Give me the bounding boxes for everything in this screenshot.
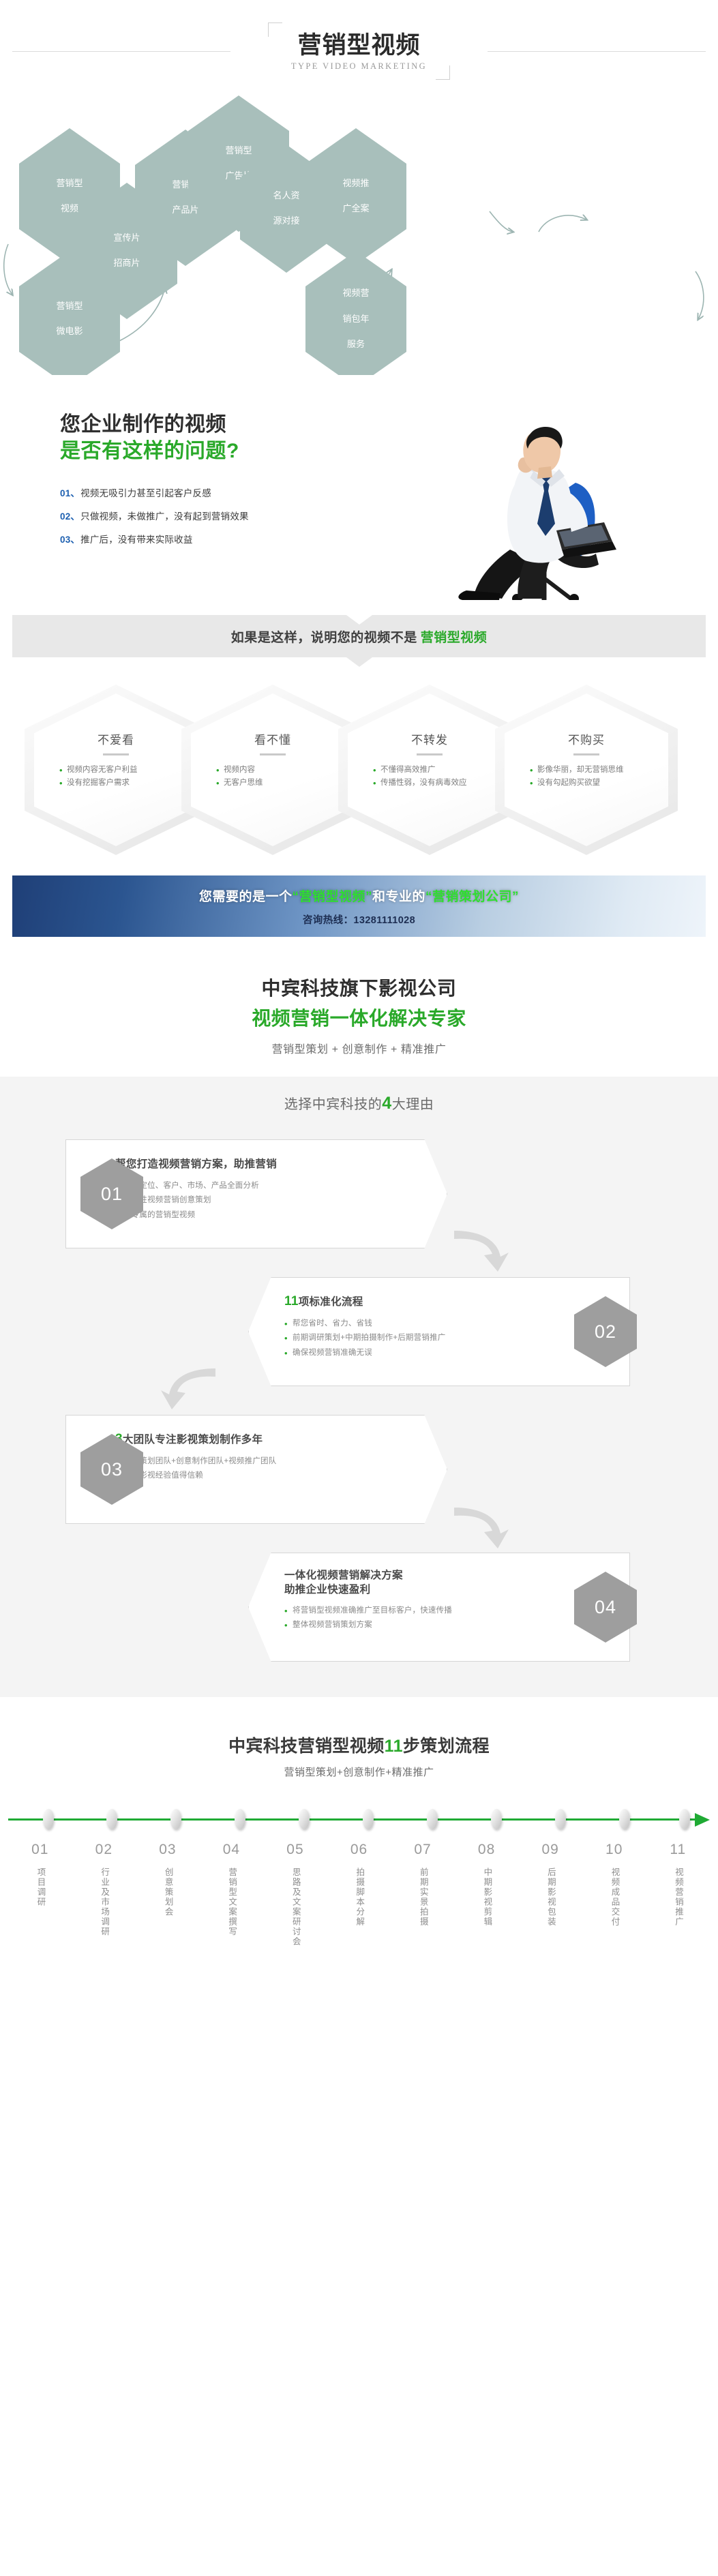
hex-label-line1: 宣传片	[109, 232, 144, 245]
company-heading-section: 中宾科技旗下影视公司 视频营销一体化解决专家 营销型策划 + 创意制作 + 精准…	[0, 955, 718, 1077]
reasons-title-number: 4	[382, 1094, 391, 1113]
timeline-step-3[interactable]: 04 营销型文案撰写	[200, 1842, 264, 1950]
page-title: 营销型视频	[291, 32, 427, 59]
reason-card-body: 一体化视频营销解决方案 助推企业快速盈利 将营销型视频准确推广至目标客户，快速传…	[249, 1553, 629, 1632]
problem-hex-bullets: 视频内容无客户利益 没有挖掘客户需求	[59, 764, 173, 790]
timeline-step-7[interactable]: 08 中期影视剪辑	[455, 1842, 519, 1950]
company-line1: 中宾科技旗下影视公司	[0, 974, 718, 1001]
bullet: 影像华丽，却无营销思维	[530, 764, 643, 777]
step-number: 07	[391, 1842, 455, 1858]
bullet: 传播性弱，没有病毒效应	[373, 777, 486, 790]
company-line3: 营销型策划 + 创意制作 + 精准推广	[0, 1040, 718, 1056]
step-label: 视频营销推广	[670, 1868, 685, 1927]
cta-middle: 和专业的	[372, 890, 425, 904]
problem-hex-inner: 不爱看 视频内容无客户利益 没有挖掘客户需求	[34, 693, 198, 846]
step-label: 拍摄脚本分解	[352, 1868, 367, 1927]
hex-label-line2: 视频	[52, 203, 87, 215]
problem-heading-line1: 您企业制作的视频	[60, 413, 249, 438]
step-label: 项目调研	[33, 1868, 48, 1907]
problem-heading-line2: 是否有这样的问题?	[60, 439, 249, 464]
step-label: 创意策划会	[160, 1868, 175, 1917]
hex-label-line2: 源对接	[269, 215, 303, 228]
hex-label-line1: 营销型	[52, 300, 87, 313]
hex-label-line2: 产品片	[168, 204, 203, 217]
reason-bullets: 营销策划团队+创意制作团队+视频推广团队 多年影视经验值得信赖	[115, 1454, 423, 1484]
reasons-title-prefix: 选择中宾科技的	[284, 1097, 383, 1112]
company-line2: 视频营销一体化解决专家	[0, 1004, 718, 1031]
cta-quote-1: “营销型视频”	[292, 890, 372, 904]
bullet: 将营销型视频准确推广至目标客户，快速传播	[284, 1604, 606, 1618]
timeline-title: 中宾科技营销型视频11步策划流程	[0, 1733, 718, 1757]
reasons-title-suffix: 大理由	[392, 1097, 434, 1112]
step-number: 03	[136, 1842, 200, 1858]
bullet: 视频内容无客户利益	[59, 764, 173, 777]
problem-hex-title: 不转发	[411, 730, 448, 747]
timeline-node[interactable]	[427, 1809, 438, 1829]
bullet: 品牌定位、客户、市场、产品全面分析	[115, 1179, 423, 1193]
bullet: 针对性视频营销创意策划	[115, 1193, 423, 1208]
reason-bullets: 将营销型视频准确推广至目标客户，快速传播 整体视频营销策划方案	[284, 1604, 606, 1633]
gray-banner-text: 如果是这样，说明您的视频不是	[231, 631, 417, 645]
step-number: 11	[646, 1842, 710, 1858]
step-number: 08	[455, 1842, 519, 1858]
reason-heading: 11项标准化流程	[284, 1293, 606, 1311]
hex-label-line3: 服务	[338, 338, 373, 351]
timeline-step-8[interactable]: 09 后期影视包装	[518, 1842, 582, 1950]
timeline-step-5[interactable]: 06 拍摄脚本分解	[327, 1842, 391, 1950]
timeline-node[interactable]	[106, 1809, 117, 1829]
divider	[417, 753, 443, 755]
reason-row-3: 一体化视频营销解决方案 助推企业快速盈利 将营销型视频准确推广至目标客户，快速传…	[0, 1538, 718, 1667]
timeline-track	[8, 1808, 710, 1831]
problem-text-block: 您企业制作的视频 是否有这样的问题? 01、视频无吸引力甚至引起客户反感 02、…	[60, 413, 249, 555]
blue-cta-section: 您需要的是一个“营销型视频”和专业的“营销策划公司” 咨询热线：13281111…	[0, 855, 718, 955]
reason-card-body: 11项标准化流程 帮您省时、省力、省钱 前期调研策划+中期拍摄制作+后期营销推广…	[249, 1278, 629, 1360]
timeline-node[interactable]	[679, 1809, 690, 1829]
problem-hex-bullets: 不懂得高效推广 传播性弱，没有病毒效应	[373, 764, 486, 790]
problem-hex-row: 不爱看 视频内容无客户利益 没有挖掘客户需求 看不懂 视频内容 无客户思维 不转	[0, 685, 718, 855]
timeline-arrow-icon	[695, 1813, 710, 1827]
hex-label-line2: 销包年	[338, 313, 373, 326]
bullet: 无客户思维	[216, 777, 329, 790]
problem-hex-title: 不爱看	[98, 730, 134, 747]
hex-label-line2: 广全案	[338, 203, 373, 215]
timeline-node[interactable]	[235, 1809, 245, 1829]
header-title-box: 营销型视频 TYPE VIDEO MARKETING	[268, 23, 450, 79]
step-label: 后期影视包装	[543, 1868, 558, 1927]
timeline-step-4[interactable]: 05 思路及文案研讨会	[263, 1842, 327, 1950]
gray-banner-highlight: 营销型视频	[421, 631, 488, 645]
reason-heading-text: 项标准化流程	[299, 1296, 363, 1308]
timeline-step-2[interactable]: 03 创意策划会	[136, 1842, 200, 1950]
step-label: 视频成品交付	[607, 1868, 622, 1927]
hex-label-line1: 视频推	[338, 177, 373, 190]
problem-hex-bullets: 影像华丽，却无营销思维 没有勾起购买欲望	[530, 764, 643, 790]
reason-card-3[interactable]: 一体化视频营销解决方案 助推企业快速盈利 将营销型视频准确推广至目标客户，快速传…	[248, 1553, 630, 1662]
step-label: 中期影视剪辑	[479, 1868, 494, 1927]
problem-list: 01、视频无吸引力甚至引起客户反感 02、只做视频，未做推广，没有起到营销效果 …	[60, 485, 249, 545]
cta-quote-2: “营销策划公司”	[425, 890, 519, 904]
page-subtitle: TYPE VIDEO MARKETING	[291, 61, 427, 72]
bullet: 营销策划团队+创意制作团队+视频推广团队	[115, 1454, 423, 1469]
problem-list-item: 01、视频无吸引力甚至引起客户反感	[60, 485, 249, 499]
problem-list-item: 03、推广后，没有带来实际收益	[60, 532, 249, 545]
problem-hex-inner: 不购买 影像华丽，却无营销思维 没有勾起购买欲望	[505, 693, 668, 846]
reason-card-1[interactable]: 11项标准化流程 帮您省时、省力、省钱 前期调研策划+中期拍摄制作+后期营销推广…	[248, 1277, 630, 1386]
reason-row-0: 帮您打造视频营销方案，助推营销 品牌定位、客户、市场、产品全面分析 针对性视频营…	[0, 1124, 718, 1254]
reasons-section: 选择中宾科技的4大理由 帮您打造视频营销方案，助推营销	[0, 1077, 718, 1697]
step-number: 05	[263, 1842, 327, 1858]
reason-row-1: 11项标准化流程 帮您省时、省力、省钱 前期调研策划+中期拍摄制作+后期营销推广…	[0, 1262, 718, 1392]
hex-label-line2: 微电影	[52, 325, 87, 338]
timeline-section: 中宾科技营销型视频11步策划流程 营销型策划+创意制作+精准推广 01 项目调研	[0, 1697, 718, 1981]
gray-banner: 如果是这样，说明您的视频不是营销型视频	[12, 615, 706, 657]
hex-label-line1: 营销型	[52, 177, 87, 190]
bullet: 前期调研策划+中期拍摄制作+后期营销推广	[284, 1331, 606, 1345]
step-number: 06	[327, 1842, 391, 1858]
timeline-node[interactable]	[619, 1809, 630, 1829]
marketing-video-landing-page: 营销型视频 TYPE VIDEO MARKETING	[0, 0, 718, 1981]
bullet: 不懂得高效推广	[373, 764, 486, 777]
problem-item-text: 视频无吸引力甚至引起客户反感	[80, 488, 211, 498]
hex-label-line1: 视频营	[338, 287, 373, 300]
header-rule-left	[12, 51, 230, 52]
timeline-node[interactable]	[363, 1809, 374, 1829]
bullet: 多年影视经验值得信赖	[115, 1469, 423, 1483]
step-label: 思路及文案研讨会	[288, 1868, 303, 1947]
reason-heading: 3大团队专注影视策划制作多年	[115, 1431, 423, 1448]
reason-heading-number: 11	[284, 1294, 299, 1308]
bullet: 帮您省时、省力、省钱	[284, 1317, 606, 1331]
problem-hex-inner: 不转发 不懂得高效推广 传播性弱，没有病毒效应	[348, 693, 511, 846]
step-label: 营销型文案撰写	[224, 1868, 239, 1937]
reason-heading-text2: 助推企业快速盈利	[284, 1584, 370, 1596]
problem-item-number: 02、	[60, 511, 80, 522]
problem-hex-3[interactable]: 不购买 影像华丽，却无营销思维 没有勾起购买欲望	[495, 685, 678, 855]
divider	[103, 753, 129, 755]
reasons-title: 选择中宾科技的4大理由	[0, 1093, 718, 1113]
timeline-node[interactable]	[43, 1809, 54, 1829]
reason-bullets: 品牌定位、客户、市场、产品全面分析 针对性视频营销创意策划 您专属的营销型视频	[115, 1179, 423, 1223]
cta-prefix: 您需要的是一个	[199, 890, 293, 904]
problem-hex-title: 不购买	[568, 730, 605, 747]
timeline-node[interactable]	[170, 1809, 181, 1829]
reason-heading: 帮您打造视频营销方案，助推营销	[115, 1155, 423, 1173]
step-number: 01	[8, 1842, 72, 1858]
bullet: 视频内容	[216, 764, 329, 777]
header-rule-right	[488, 51, 706, 52]
timeline-subtitle: 营销型策划+创意制作+精准推广	[0, 1765, 718, 1779]
problem-hex-inner: 看不懂 视频内容 无客户思维	[191, 693, 355, 846]
timeline-step-6[interactable]: 07 前期实景拍摄	[391, 1842, 455, 1950]
problem-list-item: 02、只做视频，未做推广，没有起到营销效果	[60, 509, 249, 522]
problem-item-text: 只做视频，未做推广，没有起到营销效果	[80, 511, 249, 522]
hotline-text[interactable]: 咨询热线：13281111028	[303, 912, 415, 927]
problem-hex-0[interactable]: 不爱看 视频内容无客户利益 没有挖掘客户需求	[25, 685, 207, 855]
gray-banner-text-wrap: 如果是这样，说明您的视频不是营销型视频	[231, 627, 488, 646]
timeline-node[interactable]	[491, 1809, 502, 1829]
step-label: 行业及市场调研	[97, 1868, 112, 1937]
reason-heading-text: 帮您打造视频营销方案，助推营销	[115, 1158, 277, 1170]
timeline-step-0[interactable]: 01 项目调研	[8, 1842, 72, 1950]
timeline-step-1[interactable]: 02 行业及市场调研	[72, 1842, 136, 1950]
timeline-node[interactable]	[555, 1809, 566, 1829]
problem-hex-1[interactable]: 看不懂 视频内容 无客户思维	[181, 685, 364, 855]
gray-banner-section: 如果是这样，说明您的视频不是营销型视频	[0, 600, 718, 670]
blue-cta-heading: 您需要的是一个“营销型视频”和专业的“营销策划公司”	[199, 886, 519, 905]
step-number: 09	[518, 1842, 582, 1858]
timeline-node[interactable]	[299, 1809, 310, 1829]
blue-cta-banner: 您需要的是一个“营销型视频”和专业的“营销策划公司” 咨询热线：13281111…	[12, 875, 706, 937]
timeline-title-prefix: 中宾科技营销型视频	[228, 1737, 385, 1756]
step-number: 10	[582, 1842, 646, 1858]
bullet: 整体视频营销策划方案	[284, 1618, 606, 1632]
hex-label-line1: 营销型	[221, 145, 256, 158]
problem-item-number: 01、	[60, 488, 80, 498]
bullet: 您专属的营销型视频	[115, 1208, 423, 1223]
problem-item-text: 推广后，没有带来实际收益	[80, 535, 192, 545]
reason-heading-text: 大团队专注影视策划制作多年	[123, 1434, 263, 1446]
step-number: 04	[200, 1842, 264, 1858]
problem-hex-2[interactable]: 不转发 不懂得高效推广 传播性弱，没有病毒效应	[338, 685, 521, 855]
hex-label-line1: 名人资	[269, 190, 303, 203]
step-label: 前期实景拍摄	[415, 1868, 430, 1927]
timeline-steps: 01 项目调研 02 行业及市场调研 03 创意策划会 04 营销型文案撰写 0…	[8, 1842, 710, 1950]
timeline-title-suffix: 步策划流程	[403, 1737, 490, 1756]
reason-bullets: 帮您省时、省力、省钱 前期调研策划+中期拍摄制作+后期营销推广 确保视频营销准确…	[284, 1317, 606, 1360]
hex-item-7[interactable]: 视频营 销包年 服务	[305, 251, 406, 387]
problem-item-number: 03、	[60, 535, 80, 545]
timeline-title-number: 11	[385, 1737, 403, 1756]
service-hex-grid: 营销型 视频 营销型 微电影 宣传片 招商片 营销型 产品片 营销型	[0, 102, 718, 375]
page-header: 营销型视频 TYPE VIDEO MARKETING	[0, 0, 718, 102]
reason-heading-text: 一体化视频营销解决方案	[284, 1570, 403, 1581]
bullet: 没有勾起购买欲望	[530, 777, 643, 790]
step-number: 02	[72, 1842, 136, 1858]
businessman-illustration	[442, 395, 653, 600]
hex-label-line2: 招商片	[109, 257, 144, 270]
problem-hex-title: 看不懂	[254, 730, 291, 747]
bullet: 没有挖掘客户需求	[59, 777, 173, 790]
bullet: 确保视频营销准确无误	[284, 1346, 606, 1360]
problem-section: 您企业制作的视频 是否有这样的问题? 01、视频无吸引力甚至引起客户反感 02、…	[0, 375, 718, 600]
divider	[260, 753, 286, 755]
reasons-list: 帮您打造视频营销方案，助推营销 品牌定位、客户、市场、产品全面分析 针对性视频营…	[0, 1124, 718, 1670]
reason-heading: 一体化视频营销解决方案 助推企业快速盈利	[284, 1568, 606, 1598]
divider	[573, 753, 599, 755]
problem-hex-bullets: 视频内容 无客户思维	[216, 764, 329, 790]
timeline-step-10[interactable]: 11 视频营销推广	[646, 1842, 710, 1950]
timeline-step-9[interactable]: 10 视频成品交付	[582, 1842, 646, 1950]
reason-row-2: 3大团队专注影视策划制作多年 营销策划团队+创意制作团队+视频推广团队 多年影视…	[0, 1400, 718, 1529]
